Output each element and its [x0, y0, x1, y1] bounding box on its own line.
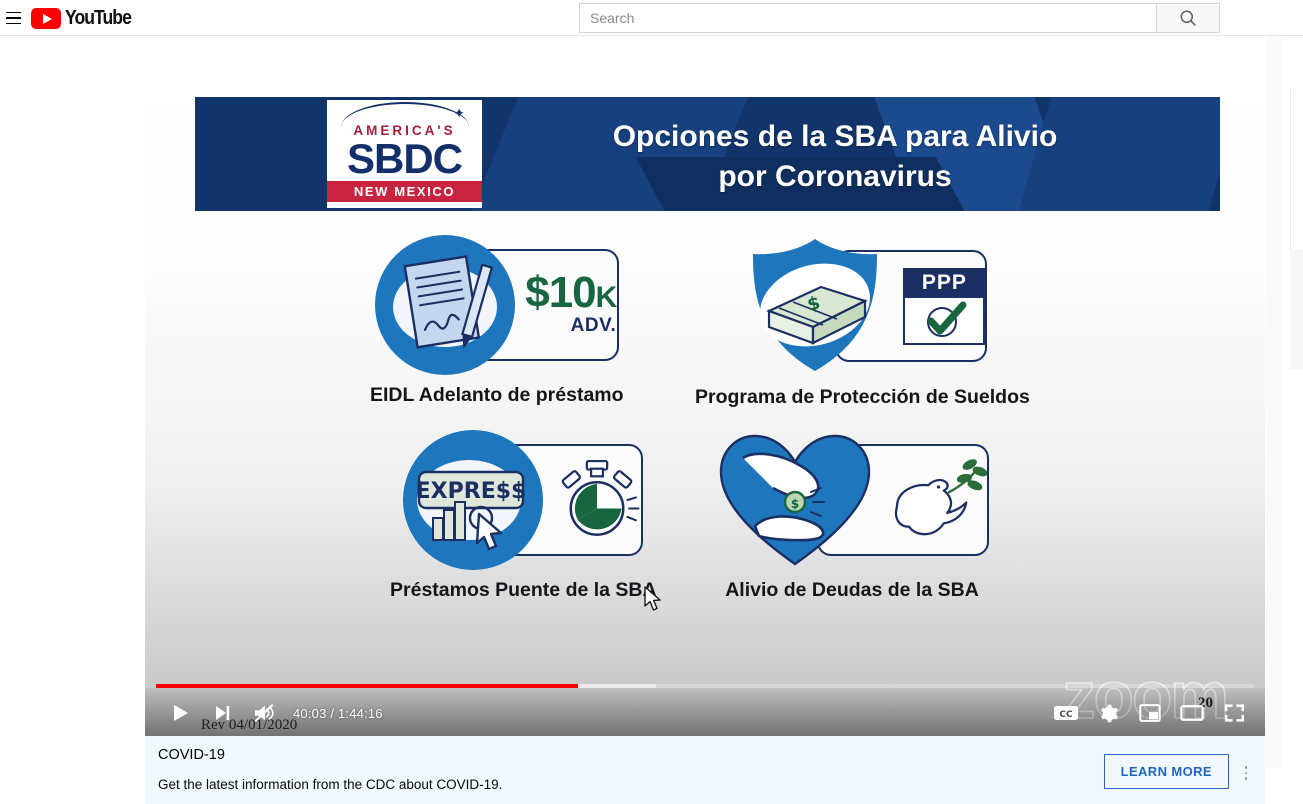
next-track-icon: [214, 704, 231, 722]
closed-captions-icon: CC: [1053, 704, 1079, 722]
feature-art: $: [715, 430, 989, 570]
heart-with-hand-giving-coin-icon: $: [715, 430, 875, 570]
video-player[interactable]: ✦ AMERICA'S SBDC NEW MEXICO Opciones de …: [145, 70, 1265, 736]
fullscreen-icon: [1224, 703, 1245, 723]
express-loan-sign-with-cursor-icon: EXPRE$$: [403, 430, 543, 570]
covid-notice-subtitle: Get the latest information from the CDC …: [158, 777, 1104, 792]
learn-more-button[interactable]: LEARN MORE: [1104, 754, 1229, 789]
youtube-logo[interactable]: YouTube: [31, 7, 140, 30]
time-display: 40:03 / 1:44:16: [293, 706, 383, 721]
feature-debt-relief: $: [715, 430, 989, 602]
feature-art: $ PPP: [737, 235, 987, 377]
star-icon: ✦: [453, 106, 465, 120]
stopwatch-icon: [553, 452, 641, 548]
miniplayer-button[interactable]: [1129, 693, 1171, 733]
feature-art: EXPRE$$: [403, 430, 643, 570]
search-input[interactable]: [579, 3, 1156, 33]
search-button[interactable]: [1156, 3, 1220, 33]
svg-text:EXPRE$$: EXPRE$$: [416, 479, 527, 504]
page-scrollbar[interactable]: [1266, 36, 1281, 768]
hamburger-line: [6, 23, 21, 25]
feature-label: EIDL Adelanto de préstamo: [370, 384, 624, 407]
settings-button[interactable]: [1087, 693, 1129, 733]
video-surface: ✦ AMERICA'S SBDC NEW MEXICO Opciones de …: [145, 70, 1265, 736]
sbdc-region-text: NEW MEXICO: [327, 181, 482, 202]
hamburger-line: [6, 12, 21, 14]
youtube-play-icon: [31, 8, 61, 29]
volume-button[interactable]: [243, 693, 285, 733]
slide-title-line1: Opciones de la SBA para Alivio: [515, 117, 1155, 157]
player-controls[interactable]: 40:03 / 1:44:16 CC: [145, 688, 1265, 736]
captions-button[interactable]: CC: [1045, 693, 1087, 733]
slide-title: Opciones de la SBA para Alivio por Coron…: [515, 117, 1155, 197]
kebab-menu-icon[interactable]: [1229, 753, 1263, 793]
sbdc-logo: ✦ AMERICA'S SBDC NEW MEXICO: [327, 100, 482, 208]
svg-text:CC: CC: [1059, 710, 1073, 720]
dove-with-olive-branch-icon: [885, 451, 987, 549]
fullscreen-button[interactable]: [1213, 693, 1255, 733]
eidl-amount: $10K: [525, 273, 616, 313]
signed-document-with-pen-icon: [375, 235, 515, 375]
gear-icon: [1098, 703, 1119, 724]
slide-title-line2: por Coronavirus: [515, 157, 1155, 197]
theater-mode-icon: [1180, 704, 1204, 722]
next-video-button[interactable]: [201, 693, 243, 733]
feature-bridge-loans: EXPRE$$: [390, 430, 657, 602]
feature-art: $10K ADV.: [375, 235, 619, 375]
progress-bar[interactable]: [156, 684, 1254, 688]
eidl-amount-sub: ADV.: [525, 315, 616, 337]
covid-notice-title: COVID-19: [158, 747, 1104, 763]
search-bar[interactable]: [579, 3, 1220, 33]
page-body: ✦ AMERICA'S SBDC NEW MEXICO Opciones de …: [0, 36, 1303, 768]
feature-eidl: $10K ADV. EIDL Adelanto de préstamo: [370, 235, 624, 407]
progress-played: [156, 684, 578, 688]
feature-grid: $10K ADV. EIDL Adelanto de préstamo: [145, 235, 1265, 665]
covid-notice-banner: COVID-19 Get the latest information from…: [145, 736, 1265, 804]
play-button[interactable]: [159, 693, 201, 733]
ppp-card: PPP: [903, 268, 985, 345]
feature-ppp: $ PPP: [695, 235, 1030, 409]
feature-label: Alivio de Deudas de la SBA: [725, 579, 979, 602]
feature-label: Préstamos Puente de la SBA: [390, 579, 657, 602]
right-panel-edge-secondary: [1290, 249, 1303, 369]
controls-left: 40:03 / 1:44:16: [159, 693, 383, 733]
covid-notice-text: COVID-19 Get the latest information from…: [158, 747, 1104, 792]
miniplayer-icon: [1139, 704, 1161, 722]
sbdc-acronym-text: SBDC: [347, 139, 462, 179]
controls-right: CC: [1045, 693, 1255, 733]
green-checkmark-icon: [905, 298, 983, 343]
play-icon: [172, 704, 189, 722]
youtube-logo-text: YouTube: [65, 7, 131, 30]
ppp-title: PPP: [905, 270, 983, 298]
volume-muted-icon: [253, 703, 275, 723]
feature-label: Programa de Protección de Sueldos: [695, 386, 1030, 409]
hamburger-line: [6, 17, 21, 19]
swoosh-arc: [341, 102, 469, 128]
hamburger-menu-icon[interactable]: [0, 6, 26, 30]
masthead: YouTube: [0, 0, 1303, 36]
svg-text:$: $: [791, 497, 799, 511]
slide-banner: ✦ AMERICA'S SBDC NEW MEXICO Opciones de …: [195, 97, 1220, 211]
shield-with-cash-stack-icon: $: [737, 235, 893, 377]
right-panel-edge: [1290, 89, 1303, 249]
search-icon: [1178, 8, 1198, 28]
theater-mode-button[interactable]: [1171, 693, 1213, 733]
